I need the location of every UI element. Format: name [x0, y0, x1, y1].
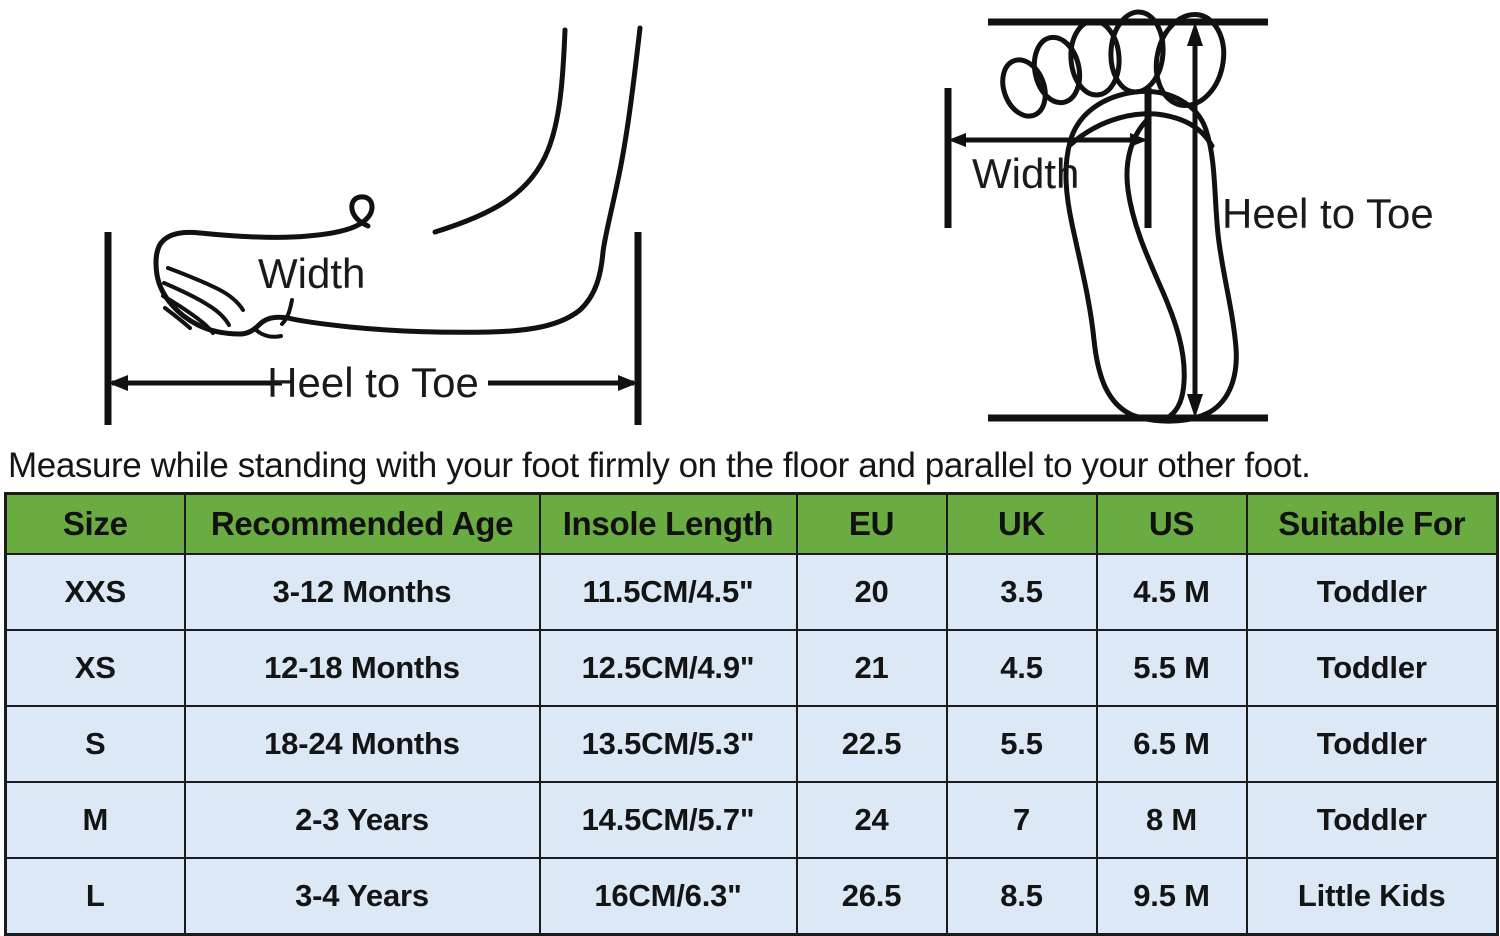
cell-suitable: Toddler — [1247, 782, 1498, 858]
cell-size: S — [6, 706, 185, 782]
cell-uk: 8.5 — [947, 858, 1097, 935]
column-header-suitable-for: Suitable For — [1247, 494, 1498, 555]
cell-age: 3-4 Years — [185, 858, 540, 935]
cell-age: 12-18 Months — [185, 630, 540, 706]
table-header-row: Size Recommended Age Insole Length EU UK… — [6, 494, 1498, 555]
column-header-recommended-age: Recommended Age — [185, 494, 540, 555]
measure-instruction-text: Measure while standing with your foot fi… — [0, 440, 1500, 492]
cell-eu: 26.5 — [797, 858, 947, 935]
cell-uk: 5.5 — [947, 706, 1097, 782]
cell-size: XXS — [6, 554, 185, 630]
size-chart-table: Size Recommended Age Insole Length EU UK… — [4, 492, 1499, 936]
cell-suitable: Toddler — [1247, 630, 1498, 706]
table-row: L 3-4 Years 16CM/6.3" 26.5 8.5 9.5 M Lit… — [6, 858, 1498, 935]
cell-size: XS — [6, 630, 185, 706]
foot-measurement-diagrams: Width Heel to Toe — [0, 0, 1500, 440]
cell-suitable: Little Kids — [1247, 858, 1498, 935]
column-header-size: Size — [6, 494, 185, 555]
cell-insole: 11.5CM/4.5" — [540, 554, 797, 630]
cell-suitable: Toddler — [1247, 554, 1498, 630]
sole-view-foot-diagram: Width Heel to Toe — [900, 0, 1500, 440]
column-header-insole-length: Insole Length — [540, 494, 797, 555]
table-row: S 18-24 Months 13.5CM/5.3" 22.5 5.5 6.5 … — [6, 706, 1498, 782]
cell-age: 2-3 Years — [185, 782, 540, 858]
column-header-us: US — [1097, 494, 1247, 555]
cell-eu: 20 — [797, 554, 947, 630]
cell-us: 9.5 M — [1097, 858, 1247, 935]
cell-us: 5.5 M — [1097, 630, 1247, 706]
size-chart-table-wrapper: Size Recommended Age Insole Length EU UK… — [4, 492, 1496, 936]
cell-size: M — [6, 782, 185, 858]
side-view-foot-diagram: Width Heel to Toe — [60, 0, 680, 440]
side-view-width-label: Width — [258, 250, 365, 297]
side-view-heel-to-toe-label: Heel to Toe — [267, 359, 479, 406]
cell-eu: 21 — [797, 630, 947, 706]
cell-us: 8 M — [1097, 782, 1247, 858]
sole-view-width-label: Width — [972, 150, 1079, 197]
cell-uk: 7 — [947, 782, 1097, 858]
cell-insole: 12.5CM/4.9" — [540, 630, 797, 706]
cell-age: 3-12 Months — [185, 554, 540, 630]
table-row: XS 12-18 Months 12.5CM/4.9" 21 4.5 5.5 M… — [6, 630, 1498, 706]
cell-uk: 4.5 — [947, 630, 1097, 706]
cell-uk: 3.5 — [947, 554, 1097, 630]
cell-us: 4.5 M — [1097, 554, 1247, 630]
cell-insole: 13.5CM/5.3" — [540, 706, 797, 782]
table-row: M 2-3 Years 14.5CM/5.7" 24 7 8 M Toddler — [6, 782, 1498, 858]
cell-insole: 14.5CM/5.7" — [540, 782, 797, 858]
cell-age: 18-24 Months — [185, 706, 540, 782]
column-header-uk: UK — [947, 494, 1097, 555]
column-header-eu: EU — [797, 494, 947, 555]
cell-suitable: Toddler — [1247, 706, 1498, 782]
table-row: XXS 3-12 Months 11.5CM/4.5" 20 3.5 4.5 M… — [6, 554, 1498, 630]
cell-us: 6.5 M — [1097, 706, 1247, 782]
cell-insole: 16CM/6.3" — [540, 858, 797, 935]
cell-eu: 24 — [797, 782, 947, 858]
cell-eu: 22.5 — [797, 706, 947, 782]
sole-view-heel-to-toe-label: Heel to Toe — [1222, 190, 1434, 237]
cell-size: L — [6, 858, 185, 935]
